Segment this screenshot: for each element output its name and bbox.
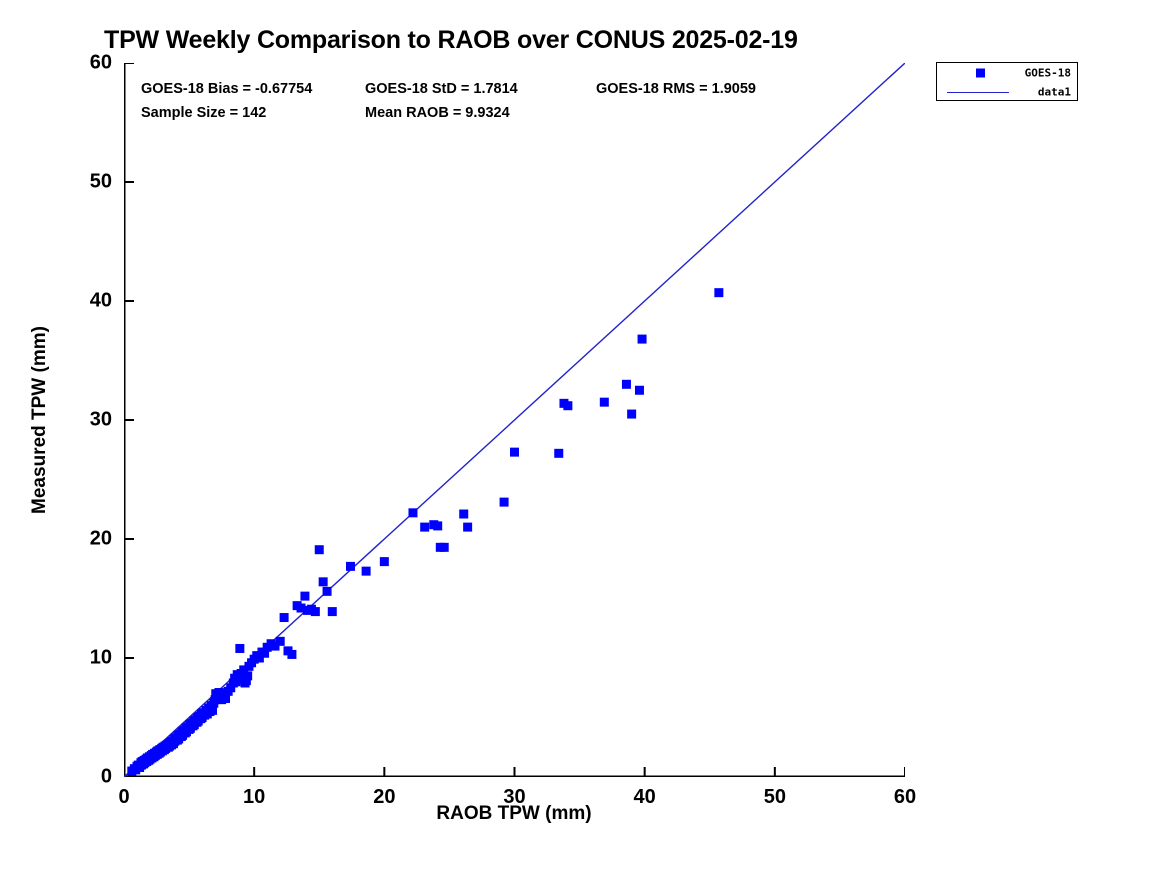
square-marker-icon bbox=[976, 68, 985, 77]
data-points bbox=[127, 288, 723, 775]
x-axis-label: RAOB TPW (mm) bbox=[436, 803, 591, 825]
y-tick-label: 0 bbox=[56, 766, 112, 789]
legend-item-data1[interactable]: data1 bbox=[937, 82, 1077, 101]
y-tick-label: 10 bbox=[56, 647, 112, 670]
statistic-text: GOES-18 Bias = -0.67754 bbox=[141, 81, 312, 97]
plot-area bbox=[124, 63, 905, 777]
y-tick-label: 20 bbox=[56, 528, 112, 551]
x-tick-label: 40 bbox=[634, 786, 656, 809]
legend-item-label: data1 bbox=[1038, 85, 1071, 98]
x-tick-label: 20 bbox=[373, 786, 395, 809]
x-tick-label: 60 bbox=[894, 786, 916, 809]
x-tick-label: 50 bbox=[764, 786, 786, 809]
x-tick-label: 0 bbox=[118, 786, 129, 809]
figure-canvas: TPW Weekly Comparison to RAOB over CONUS… bbox=[0, 0, 1167, 875]
y-tick-label: 50 bbox=[56, 171, 112, 194]
statistic-text: Sample Size = 142 bbox=[141, 105, 266, 121]
line-marker-icon bbox=[947, 92, 1009, 93]
statistic-text: GOES-18 RMS = 1.9059 bbox=[596, 81, 756, 97]
y-tick-label: 40 bbox=[56, 290, 112, 313]
y-axis-label: Measured TPW (mm) bbox=[29, 326, 51, 514]
scatter-plot-svg bbox=[124, 63, 905, 777]
legend-item-label: GOES-18 bbox=[1025, 66, 1071, 79]
statistic-text: Mean RAOB = 9.9324 bbox=[365, 105, 510, 121]
y-tick-label: 60 bbox=[56, 52, 112, 75]
legend-item-goes18[interactable]: GOES-18 bbox=[937, 63, 1077, 82]
legend[interactable]: GOES-18 data1 bbox=[936, 62, 1078, 101]
x-tick-label: 10 bbox=[243, 786, 265, 809]
statistic-text: GOES-18 StD = 1.7814 bbox=[365, 81, 518, 97]
y-tick-label: 30 bbox=[56, 409, 112, 432]
page-title: TPW Weekly Comparison to RAOB over CONUS… bbox=[104, 26, 798, 55]
